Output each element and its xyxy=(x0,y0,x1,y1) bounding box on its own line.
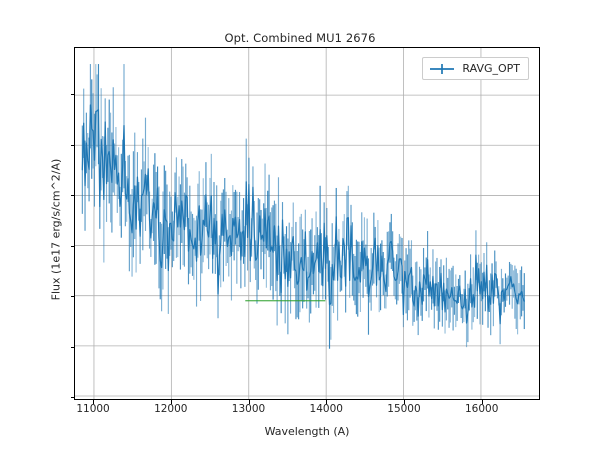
errorbar-marker-icon xyxy=(429,63,455,75)
figure-canvas: Opt. Combined MU1 2676 RAVG_OPT 11000120… xyxy=(0,0,600,450)
legend-entry-label: RAVG_OPT xyxy=(462,62,520,75)
legend-box[interactable]: RAVG_OPT xyxy=(422,57,529,80)
y-tick-mark xyxy=(71,246,75,247)
y-tick-mark xyxy=(71,145,75,146)
x-tick-label: 16000 xyxy=(465,403,498,415)
x-tick-label: 14000 xyxy=(310,403,343,415)
y-tick-mark xyxy=(71,296,75,297)
y-axis-label: Flux (1e17 erg/s/cm^2/A) xyxy=(50,80,63,380)
y-tick-mark xyxy=(71,347,75,348)
y-tick-mark xyxy=(71,94,75,95)
x-tick-label: 12000 xyxy=(154,403,187,415)
plot-axes: RAVG_OPT xyxy=(74,47,540,400)
x-tick-label: 13000 xyxy=(232,403,265,415)
spectrum-data xyxy=(75,48,539,399)
page-title: Opt. Combined MU1 2676 xyxy=(0,31,600,45)
x-tick-label: 15000 xyxy=(387,403,420,415)
x-axis-label: Wavelength (A) xyxy=(74,425,540,438)
y-tick-mark xyxy=(71,397,75,398)
x-tick-label: 11000 xyxy=(76,403,109,415)
y-tick-mark xyxy=(71,195,75,196)
